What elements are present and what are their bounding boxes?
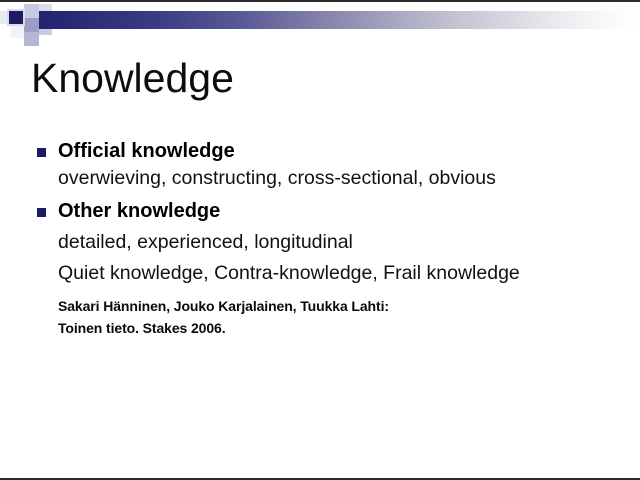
decorative-square-a (24, 4, 39, 18)
presentation-slide: Knowledge Official knowledge overwieving… (0, 0, 640, 480)
spacer (33, 286, 593, 295)
spacer (33, 191, 593, 198)
slide-body: Official knowledge overwieving, construc… (33, 138, 593, 339)
bullet-item-official-knowledge: Official knowledge (33, 138, 593, 165)
slide-header-decoration (0, 2, 640, 48)
decorative-square-d (24, 32, 39, 46)
bullet-heading: Other knowledge (58, 200, 220, 222)
decorative-square-g (38, 29, 52, 35)
gradient-band (38, 11, 640, 29)
square-bullet-icon (37, 208, 46, 217)
decorative-square-b (24, 18, 39, 32)
slide-title: Knowledge (31, 54, 234, 102)
square-bullet-icon (37, 148, 46, 157)
decorative-square-c (10, 25, 24, 38)
decorative-square-dark (9, 11, 23, 24)
citation-line-authors: Sakari Hänninen, Jouko Karjalainen, Tuuk… (33, 295, 593, 317)
bullet-detail-text: Quiet knowledge, Contra-knowledge, Frail… (33, 261, 593, 286)
bullet-detail-text: detailed, experienced, longitudinal (33, 230, 593, 255)
decorative-square-e (38, 4, 52, 11)
bullet-heading: Official knowledge (58, 140, 235, 162)
bullet-detail-text: overwieving, constructing, cross-section… (33, 166, 593, 191)
citation-line-source: Toinen tieto. Stakes 2006. (33, 317, 593, 339)
bullet-item-other-knowledge: Other knowledge (33, 198, 593, 225)
